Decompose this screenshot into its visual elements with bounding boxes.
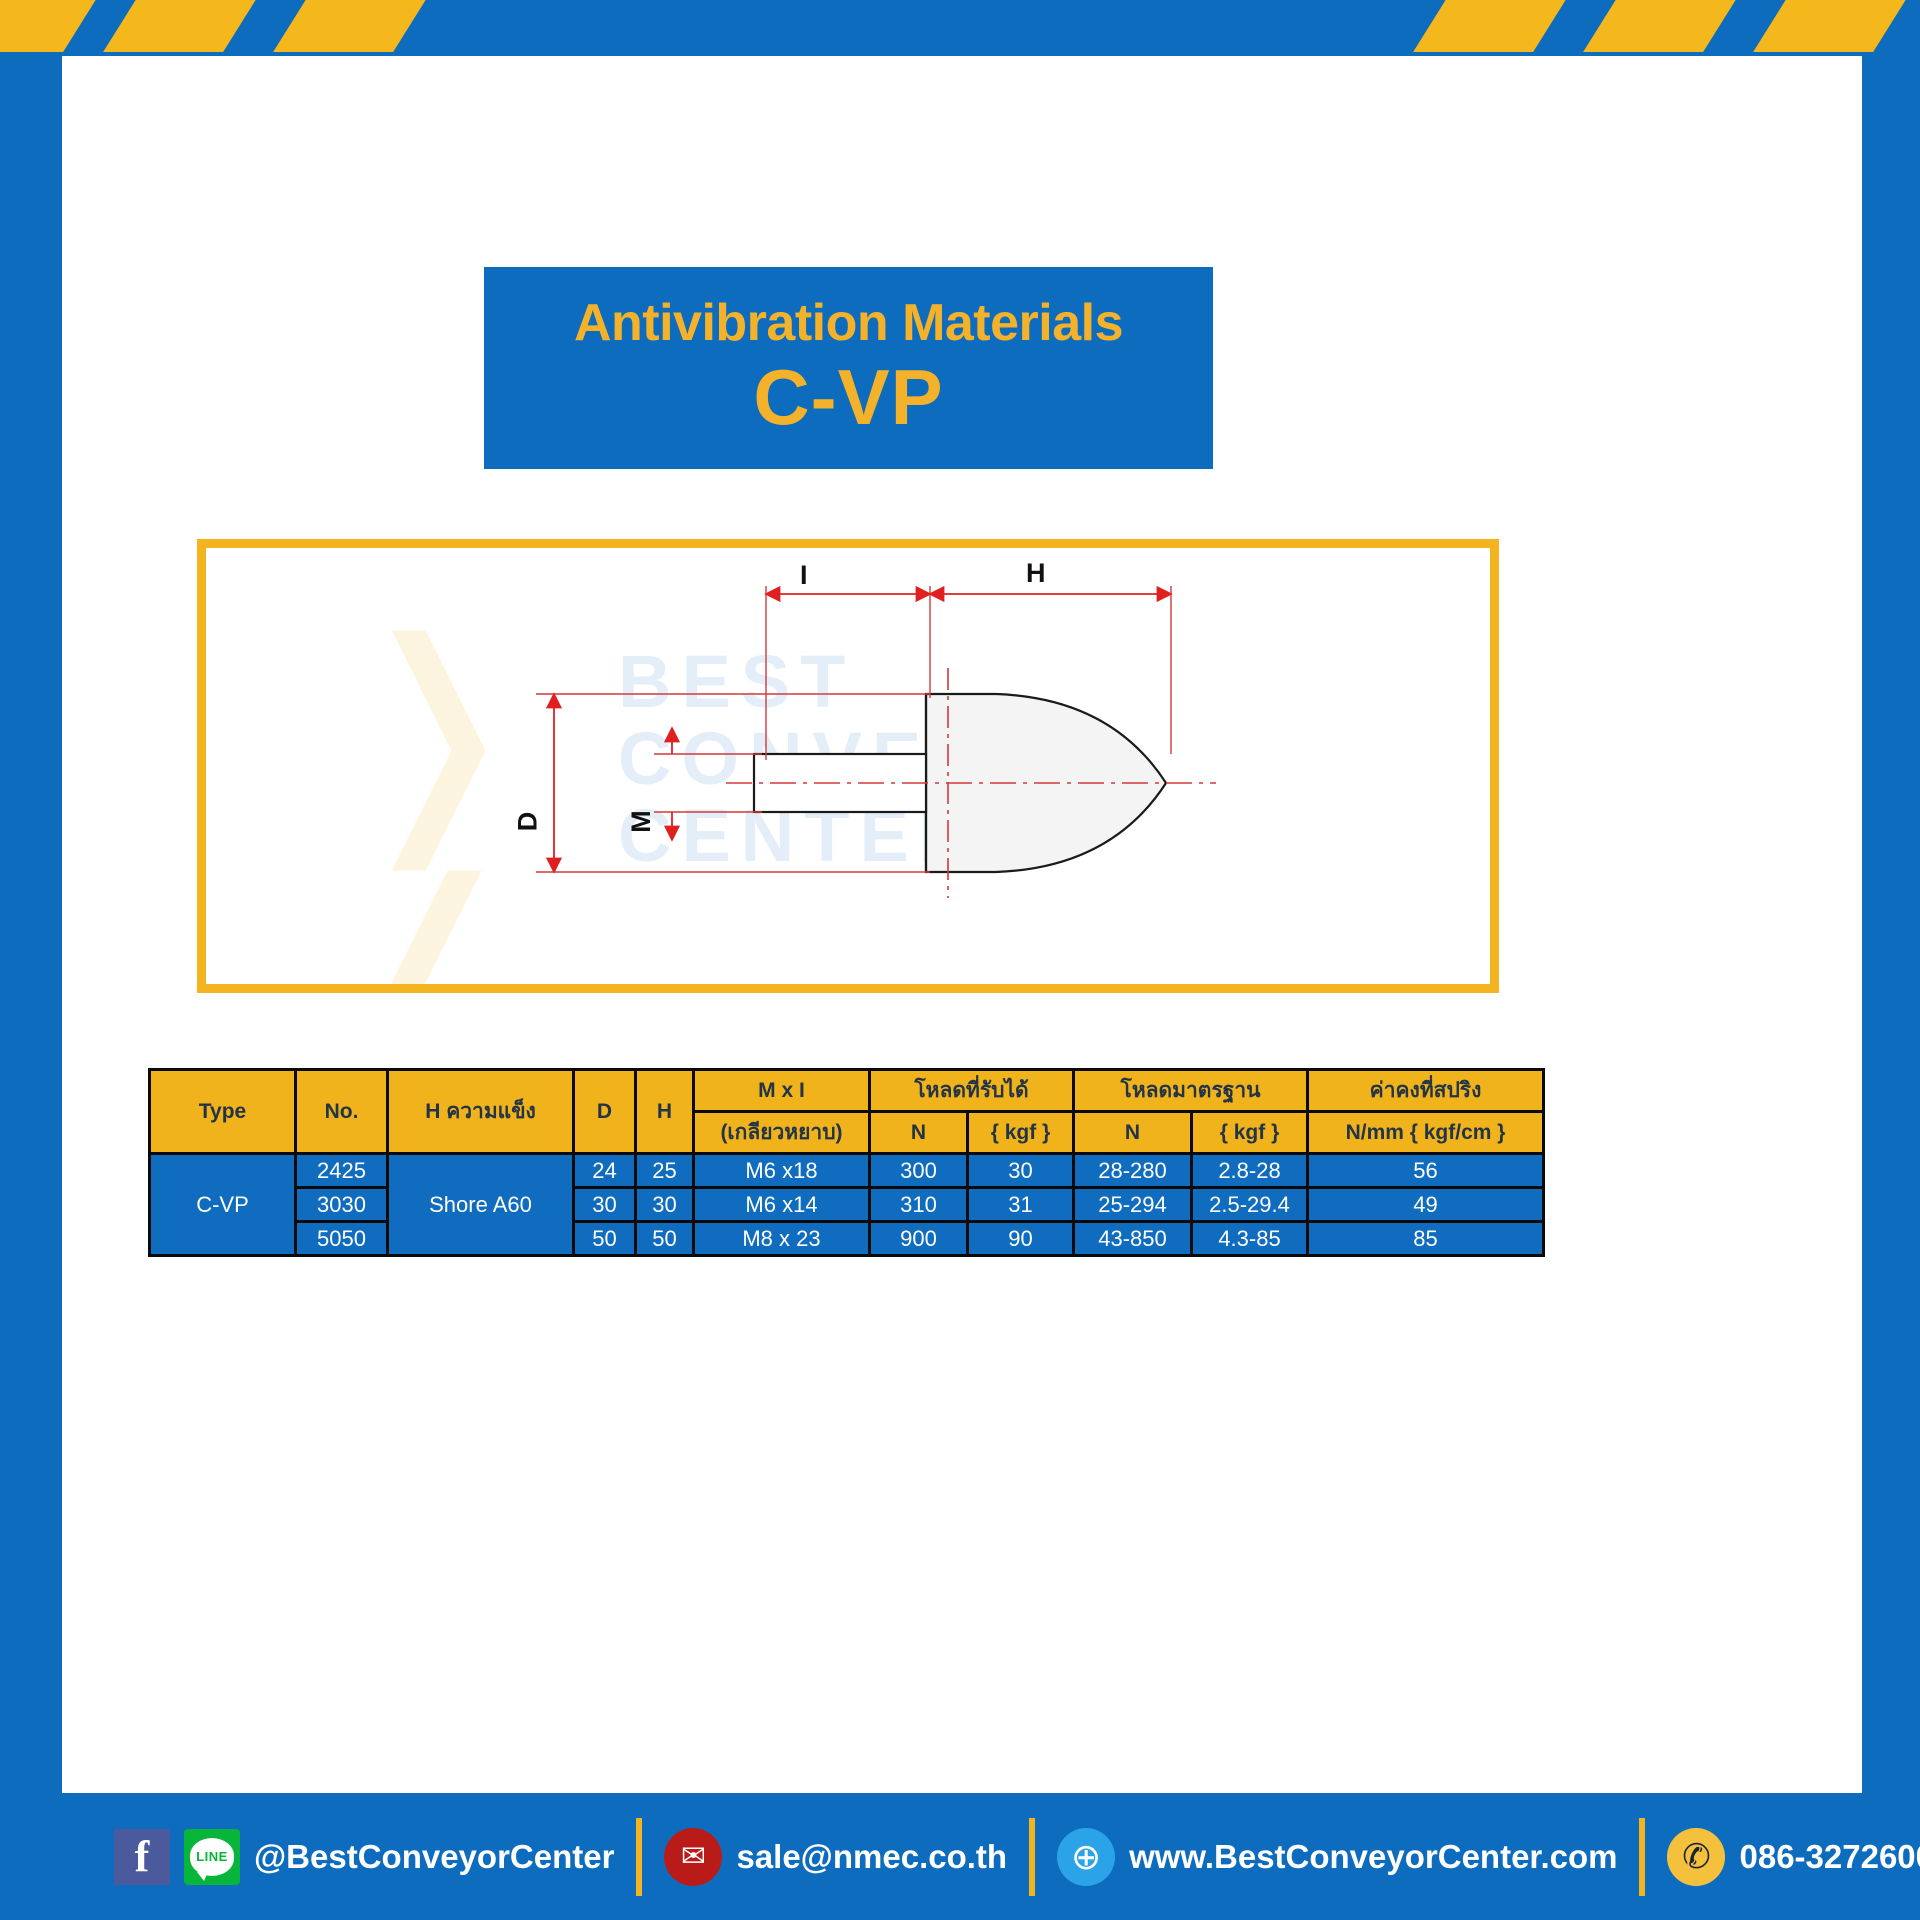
table-row: C-VP 2425 Shore A60 24 25 M6 x18 300 30 … <box>150 1154 1544 1188</box>
phone-text[interactable]: 086-3272600 , 02-0017766 <box>1739 1838 1920 1876</box>
table-row: 3030 30 30 M6 x14 310 31 25-294 2.5-29.4… <box>150 1188 1544 1222</box>
cell-spring: 56 <box>1308 1154 1544 1188</box>
col-subheader-load-kgf: { kgf } <box>968 1112 1074 1154</box>
chevron-decoration-strip <box>0 0 1920 52</box>
datasheet-page: Antivibration Materials C-VP ❭❬ BEST CON… <box>0 0 1920 1920</box>
footer-social-group[interactable]: f LINE @BestConveyorCenter <box>0 1793 636 1920</box>
cell-type: C-VP <box>150 1154 296 1256</box>
cell-h: 25 <box>636 1154 694 1188</box>
table-header-row-1: Type No. H ความแข็ง D H M x I โหลดที่รับ… <box>150 1070 1544 1112</box>
cell-no: 2425 <box>296 1154 388 1188</box>
cell-load-n: 300 <box>870 1154 968 1188</box>
cell-d: 24 <box>574 1154 636 1188</box>
mount-cross-section-drawing <box>206 548 1490 984</box>
specification-table: Type No. H ความแข็ง D H M x I โหลดที่รับ… <box>148 1068 1545 1257</box>
cell-std-n: 25-294 <box>1074 1188 1192 1222</box>
cell-no: 5050 <box>296 1222 388 1256</box>
email-icon[interactable]: ✉ <box>664 1828 722 1886</box>
col-header-standard-load: โหลดมาตรฐาน <box>1074 1070 1308 1112</box>
social-handle-text[interactable]: @BestConveyorCenter <box>254 1838 614 1876</box>
cell-load-n: 900 <box>870 1222 968 1256</box>
cell-h: 50 <box>636 1222 694 1256</box>
line-icon[interactable]: LINE <box>184 1829 240 1885</box>
cell-mxi: M6 x14 <box>694 1188 870 1222</box>
dimension-label-M: M <box>626 810 657 833</box>
cell-spring: 49 <box>1308 1188 1544 1222</box>
cell-std-n: 43-850 <box>1074 1222 1192 1256</box>
cell-mxi: M6 x18 <box>694 1154 870 1188</box>
dimension-label-H: H <box>1026 558 1046 589</box>
cell-hardness: Shore A60 <box>388 1154 574 1256</box>
website-text[interactable]: www.BestConveyorCenter.com <box>1129 1838 1617 1876</box>
cell-std-n: 28-280 <box>1074 1154 1192 1188</box>
footer-email-group[interactable]: ✉ sale@nmec.co.th <box>642 1793 1029 1920</box>
col-header-hardness: H ความแข็ง <box>388 1070 574 1154</box>
col-header-spring-constant: ค่าคงที่สปริง <box>1308 1070 1544 1112</box>
col-header-type: Type <box>150 1070 296 1154</box>
cell-load-kgf: 30 <box>968 1154 1074 1188</box>
email-text[interactable]: sale@nmec.co.th <box>736 1838 1007 1876</box>
cell-d: 30 <box>574 1188 636 1222</box>
col-header-h: H <box>636 1070 694 1154</box>
table-row: 5050 50 50 M8 x 23 900 90 43-850 4.3-85 … <box>150 1222 1544 1256</box>
cell-d: 50 <box>574 1222 636 1256</box>
col-subheader-std-n: N <box>1074 1112 1192 1154</box>
technical-drawing-panel: ❭❬ BEST CONVEYOR CENTER <box>197 539 1499 993</box>
col-header-mxi: M x I <box>694 1070 870 1112</box>
cell-mxi: M8 x 23 <box>694 1222 870 1256</box>
cell-load-kgf: 90 <box>968 1222 1074 1256</box>
dimension-label-I: I <box>800 560 808 591</box>
facebook-icon[interactable]: f <box>114 1829 170 1885</box>
col-header-no: No. <box>296 1070 388 1154</box>
footer-phone-group[interactable]: ✆ 086-3272600 , 02-0017766 <box>1645 1793 1920 1920</box>
title-banner: Antivibration Materials C-VP <box>484 267 1213 469</box>
col-header-d: D <box>574 1070 636 1154</box>
cell-std-kgf: 2.8-28 <box>1192 1154 1308 1188</box>
cell-no: 3030 <box>296 1188 388 1222</box>
cell-h: 30 <box>636 1188 694 1222</box>
col-subheader-load-n: N <box>870 1112 968 1154</box>
cell-std-kgf: 2.5-29.4 <box>1192 1188 1308 1222</box>
product-code-title: C-VP <box>753 357 943 439</box>
footer-website-group[interactable]: ⊕ www.BestConveyorCenter.com <box>1035 1793 1639 1920</box>
col-subheader-spring-units: N/mm { kgf/cm } <box>1308 1112 1544 1154</box>
footer-contact-bar: f LINE @BestConveyorCenter ✉ sale@nmec.c… <box>0 1793 1920 1920</box>
globe-icon[interactable]: ⊕ <box>1057 1828 1115 1886</box>
dimension-label-D: D <box>512 812 543 832</box>
col-subheader-thread-coarse: (เกลียวหยาบ) <box>694 1112 870 1154</box>
col-subheader-std-kgf: { kgf } <box>1192 1112 1308 1154</box>
cell-load-n: 310 <box>870 1188 968 1222</box>
cell-load-kgf: 31 <box>968 1188 1074 1222</box>
cell-std-kgf: 4.3-85 <box>1192 1222 1308 1256</box>
cell-spring: 85 <box>1308 1222 1544 1256</box>
phone-icon[interactable]: ✆ <box>1667 1828 1725 1886</box>
content-sheet: Antivibration Materials C-VP ❭❬ BEST CON… <box>62 56 1862 1793</box>
page-title: Antivibration Materials <box>574 297 1123 349</box>
col-header-allowable-load: โหลดที่รับได้ <box>870 1070 1074 1112</box>
line-icon-label: LINE <box>190 1838 234 1876</box>
